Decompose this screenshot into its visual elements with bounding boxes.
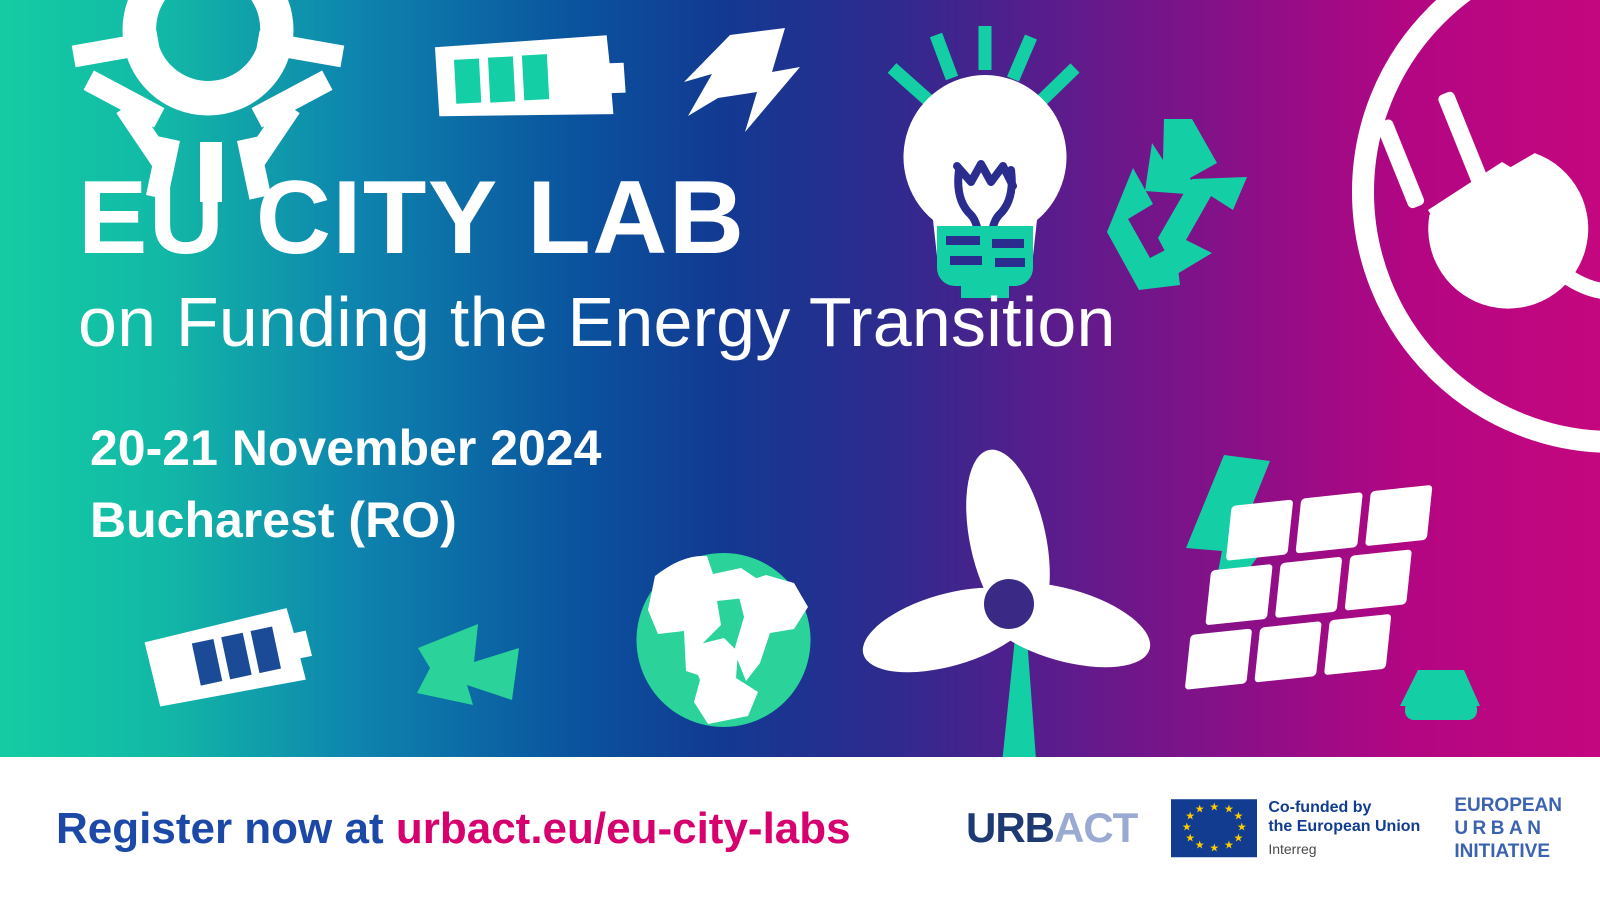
sun-icon xyxy=(72,0,345,202)
european-urban-initiative-logo[interactable]: EUROPEAN URBAN INITIATIVE xyxy=(1454,794,1562,864)
eui-line-1: EUROPEAN xyxy=(1454,794,1562,817)
lightning-bolt-icon xyxy=(684,28,800,132)
hero-gradient-panel: EU CITY LAB on Funding the Energy Transi… xyxy=(0,0,1600,757)
logo-strip: URBACT ★ ★ ★ ★ ★ ★ ★ ★ ★ ★ ★ ★ xyxy=(966,794,1562,864)
eui-line-3: INITIATIVE xyxy=(1454,840,1562,863)
zigzag-bolt-icon xyxy=(417,624,519,705)
lightbulb-icon xyxy=(892,26,1075,298)
globe-icon xyxy=(636,553,810,727)
eui-line-2: URBAN xyxy=(1454,817,1562,840)
eu-flag-icon: ★ ★ ★ ★ ★ ★ ★ ★ ★ ★ ★ ★ xyxy=(1171,799,1257,857)
register-prefix-label: Register now at xyxy=(56,804,396,853)
power-plug-icon xyxy=(1363,0,1600,442)
eu-line-3: Interreg xyxy=(1268,842,1420,859)
recycle-icon xyxy=(1107,119,1247,290)
eu-line-2: the European Union xyxy=(1268,818,1420,837)
eu-cofunding-text: Co-funded by the European Union Interreg xyxy=(1268,799,1420,858)
register-url-link[interactable]: urbact.eu/eu-city-labs xyxy=(396,804,851,853)
urbact-logo[interactable]: URBACT xyxy=(966,807,1137,849)
urbact-logo-light-text: ACT xyxy=(1054,804,1137,851)
event-promo-banner: EU CITY LAB on Funding the Energy Transi… xyxy=(0,0,1600,900)
eu-cofunding-logo: ★ ★ ★ ★ ★ ★ ★ ★ ★ ★ ★ ★ Co-funded by the… xyxy=(1171,799,1420,858)
register-call-to-action[interactable]: Register now at urbact.eu/eu-city-labs xyxy=(56,804,851,854)
wind-turbine-icon xyxy=(853,442,1159,757)
footer-bar: Register now at urbact.eu/eu-city-labs U… xyxy=(0,757,1600,900)
battery-icon xyxy=(435,35,627,121)
eu-line-1: Co-funded by xyxy=(1268,799,1420,818)
battery-icon-2 xyxy=(144,605,317,711)
decorative-icons-layer xyxy=(0,0,1600,757)
urbact-logo-dark-text: URB xyxy=(966,804,1054,851)
